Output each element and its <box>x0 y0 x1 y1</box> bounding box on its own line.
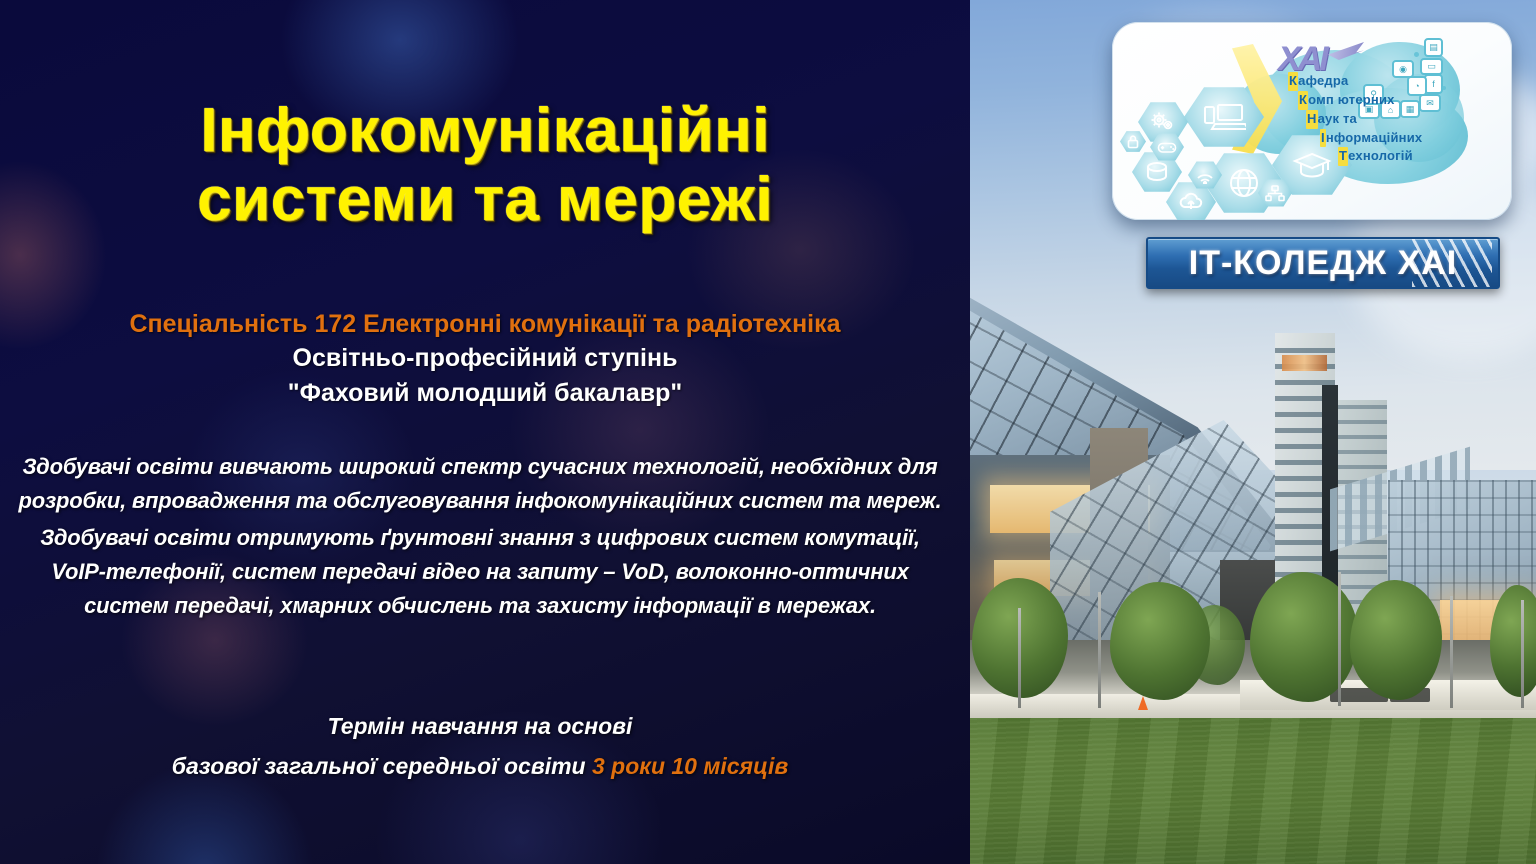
description-paragraph-1: Здобувачі освіти вивчають широкий спектр… <box>14 450 946 519</box>
department-line-rest: аук та <box>1318 111 1357 126</box>
study-term-duration: 3 роки 10 місяців <box>592 753 788 779</box>
study-term-line-1: Термін навчання на основі <box>14 706 946 746</box>
description-paragraph-2: Здобувачі освіти отримують ґрунтовні зна… <box>14 521 946 624</box>
title-line-2: системи та мережі <box>30 165 940 234</box>
title-line-1: Інфокомунікаційні <box>30 96 940 165</box>
tower-roof-window <box>1282 355 1327 371</box>
lock-icon <box>1120 130 1146 153</box>
lamp-post <box>1098 592 1101 708</box>
lamp-post <box>1450 596 1453 708</box>
department-line-rest: афедра <box>1298 73 1348 88</box>
department-line: Наук та <box>1288 110 1488 129</box>
it-college-banner: ІТ-КОЛЕДЖ ХАІ <box>1146 237 1500 289</box>
degree-line-2: "Фаховий молодший бакалавр" <box>20 376 950 412</box>
department-line-rest: ехнологій <box>1348 148 1413 163</box>
document-icon: ▤ <box>1424 38 1443 57</box>
degree-line-1: Освітньо-професійний ступінь <box>20 341 950 377</box>
subtitle-block: Спеціальність 172 Електронні комунікації… <box>0 308 970 412</box>
department-line: Інформаційних <box>1288 129 1488 148</box>
description-block: Здобувачі освіти вивчають широкий спектр… <box>0 450 960 624</box>
department-line-cap: Н <box>1306 110 1318 129</box>
lamp-post <box>1338 572 1341 706</box>
traffic-cone <box>1138 696 1148 710</box>
lamp-post <box>1018 608 1021 708</box>
study-term-block: Термін навчання на основі базової загаль… <box>0 706 960 787</box>
left-content-panel: Інфокомунікаційні системи та мережі Спец… <box>0 0 970 864</box>
department-line: Кафедра <box>1288 72 1488 91</box>
specialty-line: Спеціальність 172 Електронні комунікації… <box>20 308 950 341</box>
lawn-texture <box>970 718 1536 864</box>
tree <box>1250 572 1358 702</box>
department-name: Кафедра Комп ютерних Наук та Інформаційн… <box>1288 72 1488 166</box>
tree <box>1350 580 1442 700</box>
department-line-cap: Т <box>1338 147 1348 166</box>
department-line: Комп ютерних <box>1288 91 1488 110</box>
study-term-line-2: базової загальної середньої освіти 3 рок… <box>14 746 946 786</box>
it-college-banner-text: ІТ-КОЛЕДЖ ХАІ <box>1189 244 1458 283</box>
department-line-cap: К <box>1288 72 1298 91</box>
department-line-rest: нформаційних <box>1326 130 1423 145</box>
tree <box>1110 582 1210 700</box>
department-logo: ◉ ▤ ▭ f ◔ ✉ ▣ ⌂ ⚲ ▦ ХАІ Кафедра Комп юте… <box>1112 22 1512 220</box>
department-line-cap: К <box>1298 91 1308 110</box>
study-term-prefix: базової загальної середньої освіти <box>172 753 592 779</box>
department-line: Технологій <box>1288 147 1488 166</box>
department-line-rest: омп ютерних <box>1308 92 1394 107</box>
decorative-dot <box>1414 52 1419 57</box>
presentation-slide: Інфокомунікаційні системи та мережі Спец… <box>0 0 1536 864</box>
lamp-post <box>1521 600 1524 708</box>
page-title: Інфокомунікаційні системи та мережі <box>0 96 970 235</box>
